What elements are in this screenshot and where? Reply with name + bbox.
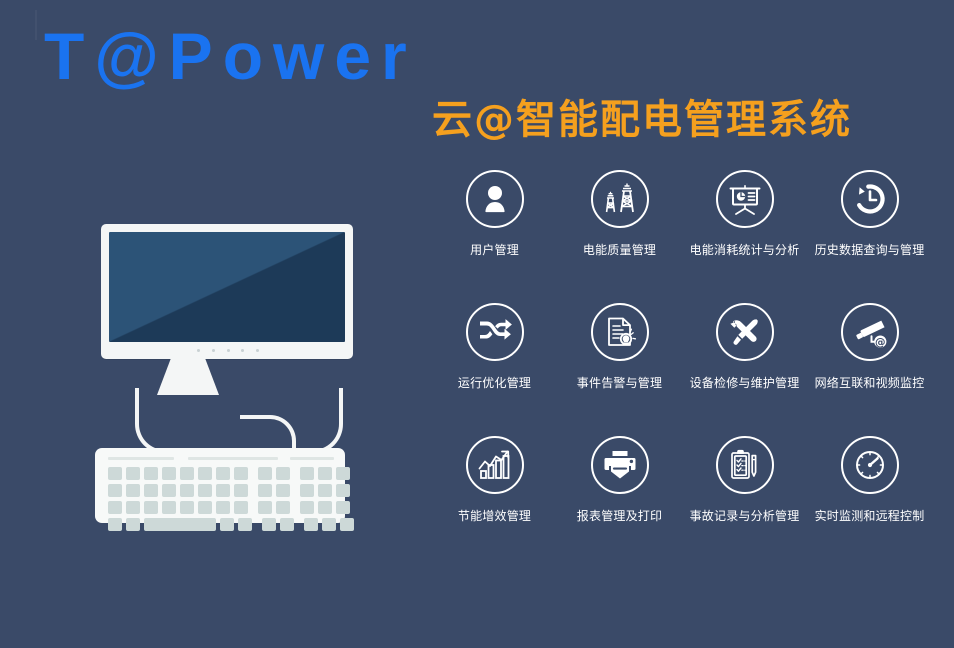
history-clock-icon (853, 182, 887, 216)
keyboard-top-bars (108, 457, 332, 460)
svg-text:@: @ (875, 337, 886, 348)
feature-icon-circle (466, 303, 524, 361)
feature-item[interactable]: 节能增效管理 (432, 436, 557, 524)
feature-icon-circle (591, 303, 649, 361)
decorative-speck (35, 10, 37, 40)
feature-label: 用户管理 (470, 241, 519, 258)
monitor-cable (135, 388, 343, 454)
shuffle-arrows-icon (477, 317, 513, 347)
user-icon (478, 182, 512, 216)
poster-canvas: T@Power 云@智能配电管理系统 (0, 0, 954, 648)
feature-icon-circle (466, 436, 524, 494)
feature-item[interactable]: 电能质量管理 (557, 170, 682, 258)
wrench-screwdriver-icon (728, 315, 762, 349)
feature-item[interactable]: 事故记录与分析管理 (682, 436, 807, 524)
feature-item[interactable]: 电能消耗统计与分析 (682, 170, 807, 258)
feature-item[interactable]: 历史数据查询与管理 (807, 170, 932, 258)
feature-label: 报表管理及打印 (577, 507, 662, 524)
feature-icon-circle (466, 170, 524, 228)
monitor-bezel (101, 224, 353, 359)
feature-item[interactable]: 运行优化管理 (432, 303, 557, 391)
feature-grid: 用户管理 (432, 170, 932, 524)
feature-item[interactable]: 实时监测和远程控制 (807, 436, 932, 524)
feature-item[interactable]: 设备检修与维护管理 (682, 303, 807, 391)
monitor-indicator-dots (197, 348, 259, 352)
monitor-screen (109, 232, 345, 342)
page-subtitle: 云@智能配电管理系统 (432, 96, 852, 144)
feature-item[interactable]: 报表管理及打印 (557, 436, 682, 524)
growth-bar-chart-icon (477, 449, 513, 481)
printer-icon (603, 448, 637, 482)
feature-label: 电能质量管理 (583, 241, 656, 258)
feature-icon-circle (716, 170, 774, 228)
feature-label: 历史数据查询与管理 (815, 241, 925, 258)
keyboard-keys (108, 467, 334, 535)
feature-item[interactable]: @ 网络互联和视频监控 (807, 303, 932, 391)
feature-label: 节能增效管理 (458, 507, 531, 524)
feature-item[interactable]: 用户管理 (432, 170, 557, 258)
clipboard-checklist-pen-icon (728, 448, 762, 482)
cctv-camera-at-icon: @ (852, 316, 888, 348)
feature-icon-circle (841, 170, 899, 228)
feature-label: 实时监测和远程控制 (815, 507, 925, 524)
presentation-chart-icon (727, 182, 763, 216)
computer-illustration (80, 200, 390, 550)
keyboard (95, 448, 345, 523)
feature-label: 网络互联和视频监控 (815, 374, 925, 391)
gauge-meter-icon (853, 448, 887, 482)
feature-label: 事件告警与管理 (577, 374, 662, 391)
feature-icon-circle: @ (841, 303, 899, 361)
feature-item[interactable]: 事件告警与管理 (557, 303, 682, 391)
page-title: T@Power (44, 18, 417, 94)
feature-label: 运行优化管理 (458, 374, 531, 391)
power-tower-icon (602, 182, 638, 216)
feature-icon-circle (591, 436, 649, 494)
feature-label: 电能消耗统计与分析 (690, 241, 800, 258)
feature-icon-circle (841, 436, 899, 494)
feature-icon-circle (716, 303, 774, 361)
feature-label: 设备检修与维护管理 (690, 374, 800, 391)
feature-icon-circle (716, 436, 774, 494)
document-alert-icon (604, 315, 636, 349)
feature-icon-circle (591, 170, 649, 228)
feature-label: 事故记录与分析管理 (690, 507, 800, 524)
